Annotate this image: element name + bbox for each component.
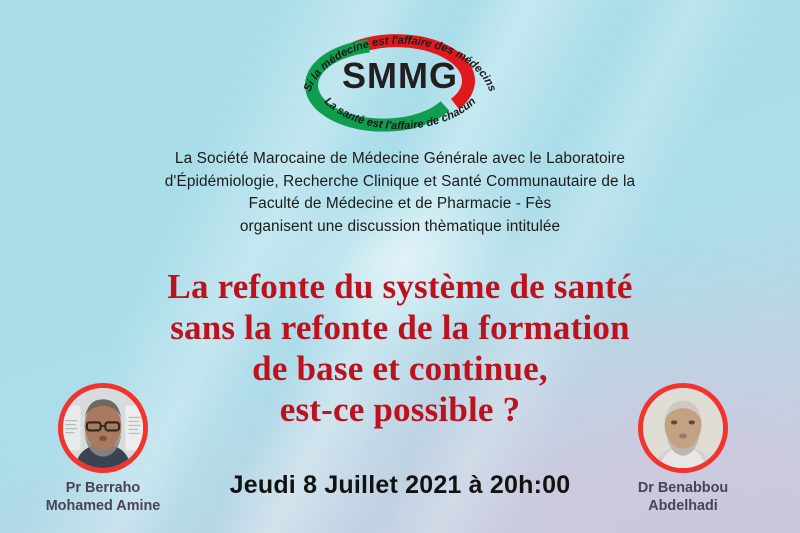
speaker-name-left-line1: Pr Berraho: [8, 480, 198, 498]
logo-acronym: SMMG: [342, 55, 458, 96]
event-poster: SMMG Si la médecine est l'affaire des mé…: [0, 0, 800, 533]
title-line-1: La refonte du système de santé: [0, 266, 800, 307]
avatar-benabbou: [638, 383, 728, 473]
smmg-logo: SMMG Si la médecine est l'affaire des mé…: [295, 16, 505, 140]
intro-line-3: Faculté de Médecine et de Pharmacie - Fè…: [0, 193, 800, 216]
avatar-photo: [643, 388, 723, 468]
intro-paragraph: La Société Marocaine de Médecine Général…: [0, 148, 800, 238]
speaker-card-right: Dr Benabbou Abdelhadi: [588, 383, 778, 515]
speaker-name-right-line1: Dr Benabbou: [588, 480, 778, 498]
speaker-name-left-line2: Mohamed Amine: [8, 498, 198, 516]
speaker-card-left: Pr Berraho Mohamed Amine: [8, 383, 198, 515]
avatar-photo: [63, 388, 143, 468]
speaker-name-right-line2: Abdelhadi: [588, 498, 778, 516]
avatar-berraho: [58, 383, 148, 473]
intro-line-1: La Société Marocaine de Médecine Général…: [0, 148, 800, 171]
title-line-2: sans la refonte de la formation: [0, 307, 800, 348]
intro-line-2: d'Épidémiologie, Recherche Clinique et S…: [0, 171, 800, 194]
speaker-name-left: Pr Berraho Mohamed Amine: [8, 480, 198, 515]
speaker-name-right: Dr Benabbou Abdelhadi: [588, 480, 778, 515]
intro-line-4: organisent une discussion thèmatique int…: [0, 216, 800, 239]
